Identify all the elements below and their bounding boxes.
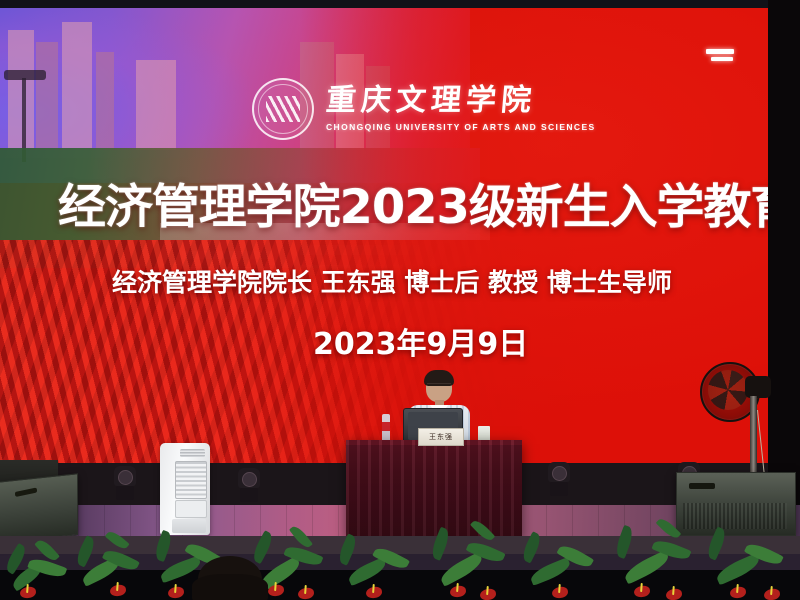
- right-wall: [768, 0, 800, 520]
- name-plate-text: 王东强: [429, 432, 453, 442]
- photo-building: [136, 60, 176, 150]
- screenshot-root: 重庆文理学院 CHONGQING UNIVERSITY OF ARTS AND …: [0, 0, 800, 600]
- foreground-plants: 红掌绿植花坛: [0, 496, 800, 600]
- university-crest-icon: [252, 78, 314, 140]
- slide-headline: 经济管理学院2023级新生入学教育: [58, 184, 770, 231]
- slide-date: 2023年9月9日: [313, 330, 528, 360]
- photo-building: [8, 30, 34, 148]
- plant: [606, 494, 698, 600]
- audience-member-silhouette: [198, 556, 262, 600]
- photo-building: [96, 52, 114, 148]
- plant: [336, 506, 420, 600]
- university-name-en: CHONGQING UNIVERSITY OF ARTS AND SCIENCE…: [326, 122, 596, 132]
- photo-building: [36, 42, 58, 148]
- photo-building: [62, 22, 92, 148]
- plant: [518, 504, 604, 600]
- plant: [70, 508, 150, 600]
- water-bottle: [382, 414, 390, 442]
- university-logo: 重庆文理学院 CHONGQING UNIVERSITY OF ARTS AND …: [252, 78, 596, 140]
- equals-mark-icon: [706, 49, 734, 62]
- plant: [700, 500, 796, 600]
- slide-subtitle: 经济管理学院院长 王东强 博士后 教授 博士生导师: [112, 270, 732, 295]
- glasses-icon: [427, 383, 451, 389]
- moving-head-light-icon: [546, 462, 572, 498]
- name-plate: 王东强: [418, 428, 464, 446]
- led-screen: 重庆文理学院 CHONGQING UNIVERSITY OF ARTS AND …: [0, 8, 770, 463]
- plant: [4, 514, 74, 600]
- plant: [424, 496, 514, 600]
- university-name-cn: 重庆文理学院: [325, 86, 597, 116]
